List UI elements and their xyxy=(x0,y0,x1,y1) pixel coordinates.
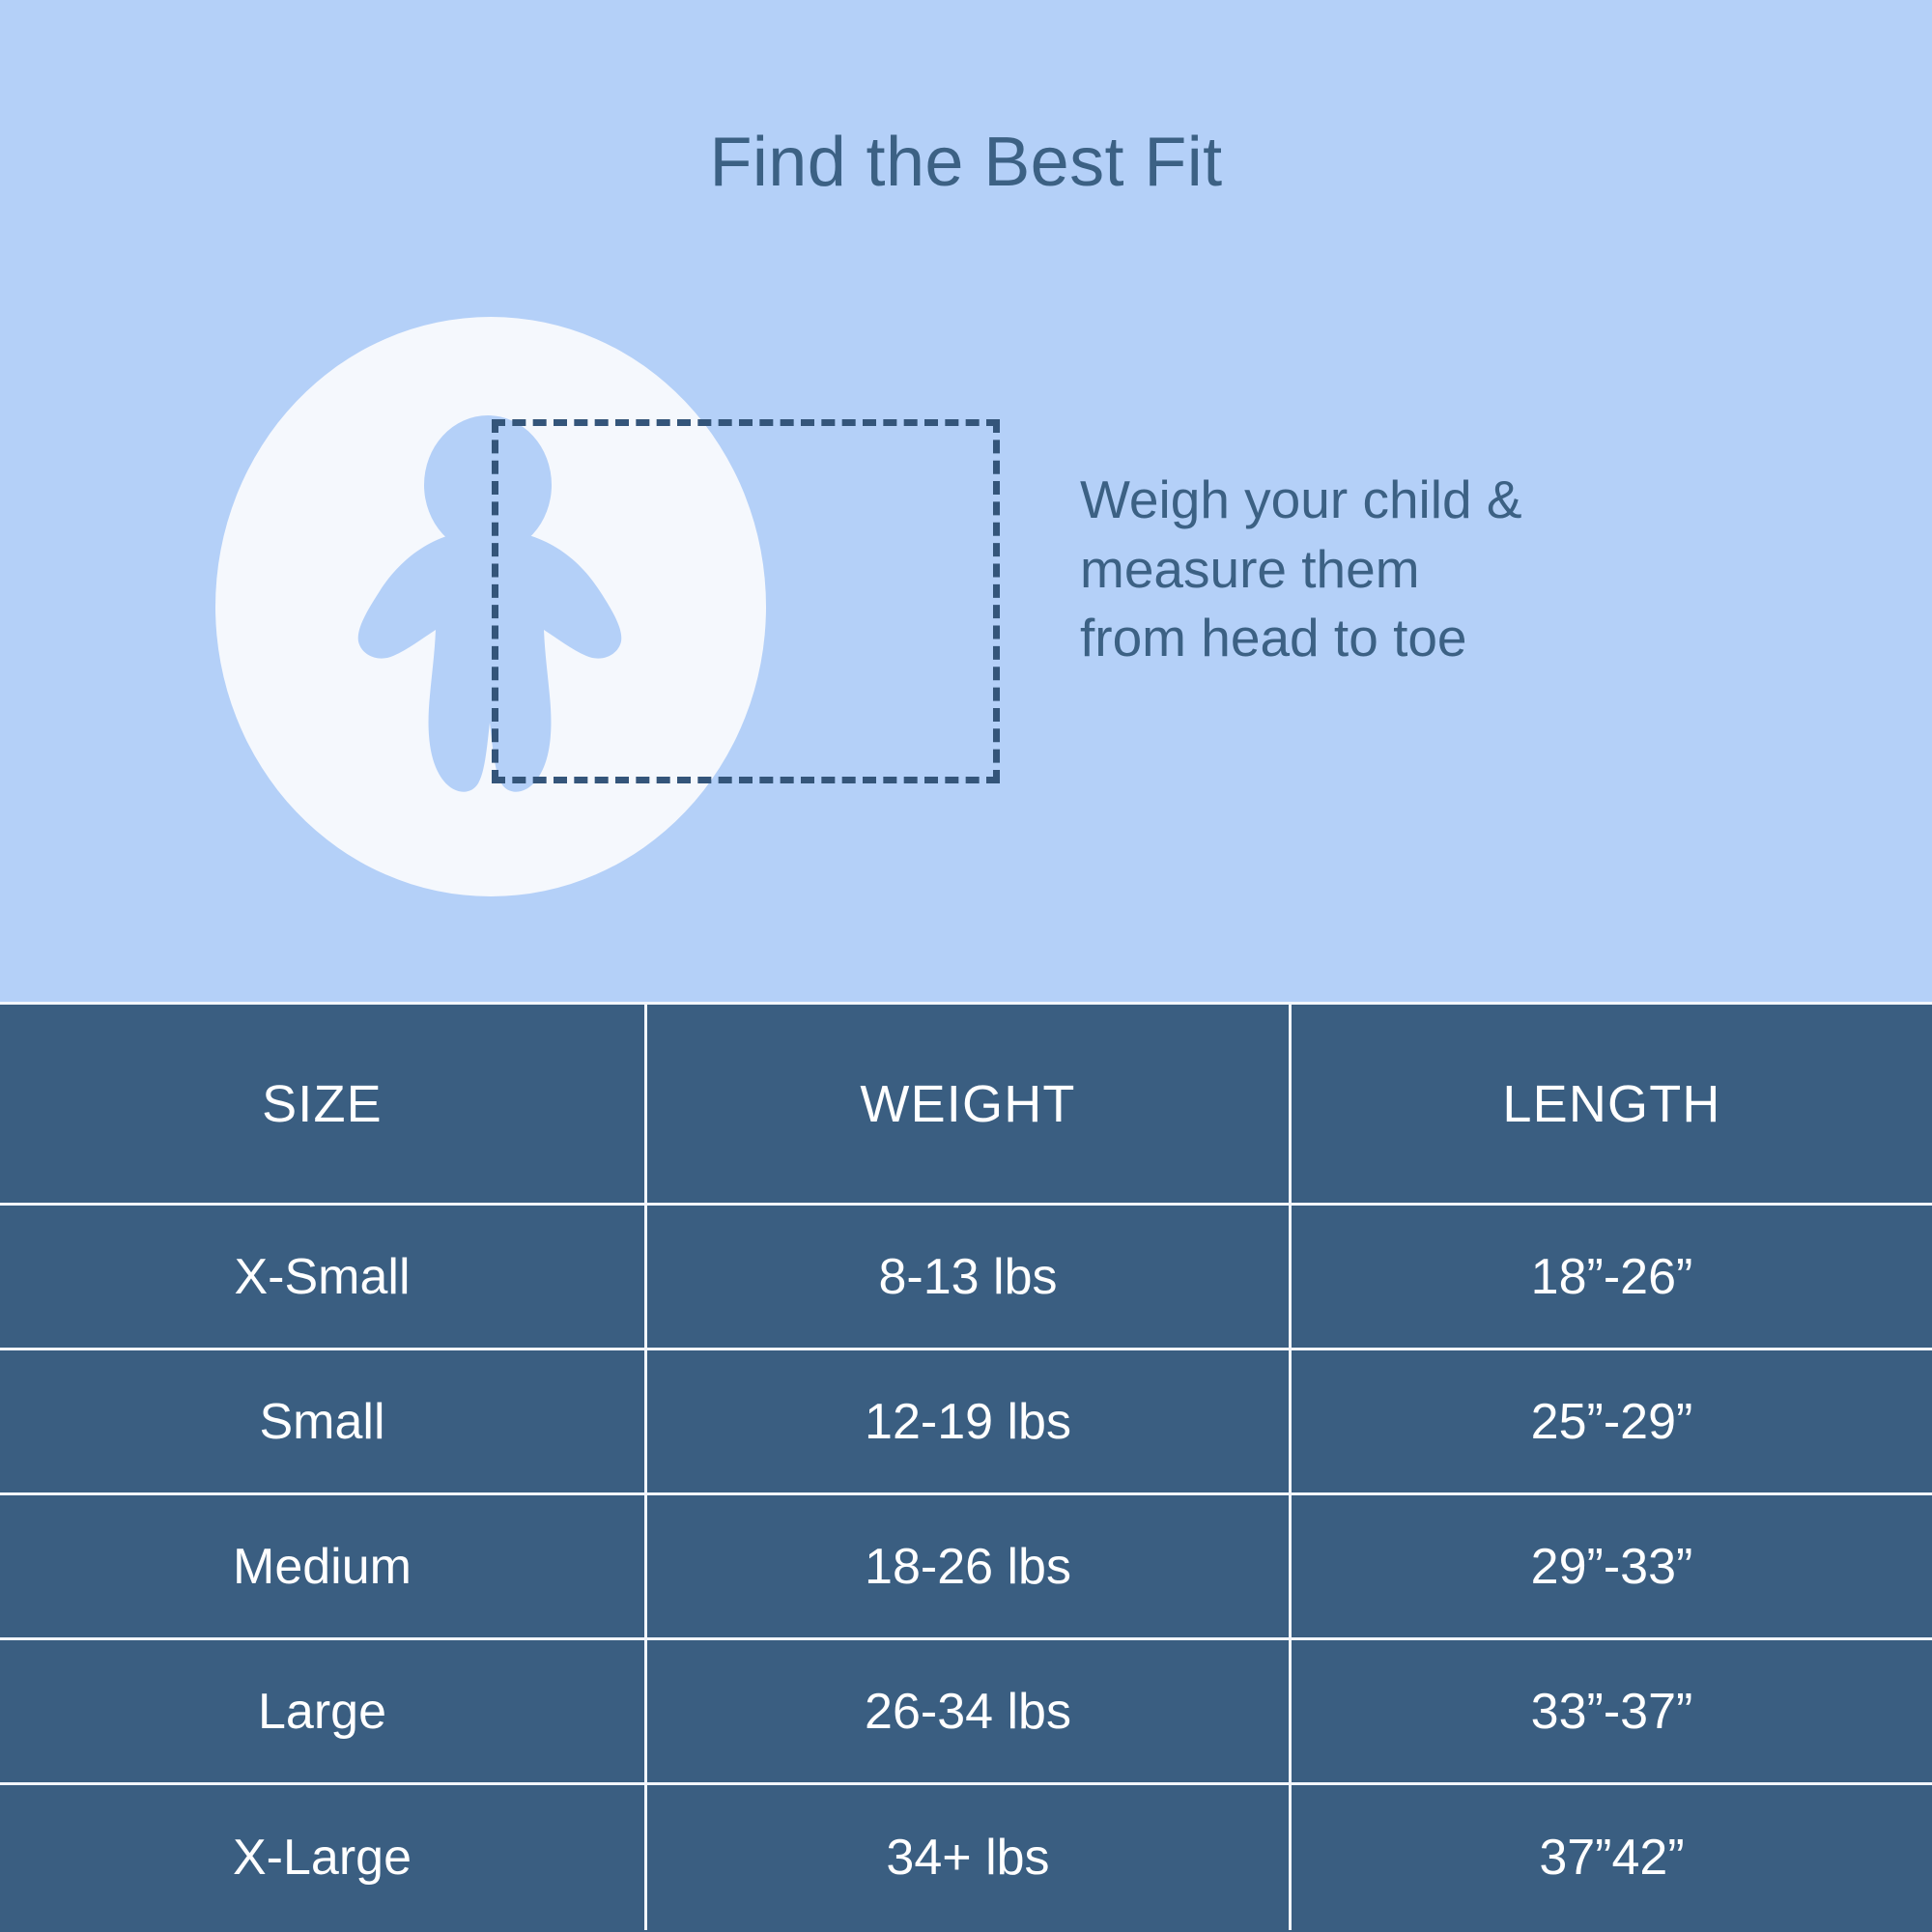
cell-weight: 12-19 lbs xyxy=(647,1350,1292,1492)
table-row: X-Large 34+ lbs 37”42” xyxy=(0,1785,1932,1930)
table-row: Large 26-34 lbs 33”-37” xyxy=(0,1640,1932,1785)
cell-size: Large xyxy=(0,1640,647,1782)
dashed-measure-box-icon xyxy=(492,419,1000,783)
cell-weight: 18-26 lbs xyxy=(647,1495,1292,1637)
cell-size: X-Small xyxy=(0,1206,647,1348)
cell-size: Small xyxy=(0,1350,647,1492)
table-header-row: SIZE WEIGHT LENGTH xyxy=(0,1005,1932,1206)
caption-line-1: Weigh your child & xyxy=(1080,466,1776,535)
cell-length: 29”-33” xyxy=(1292,1495,1932,1637)
cell-length: 33”-37” xyxy=(1292,1640,1932,1782)
cell-weight: 34+ lbs xyxy=(647,1785,1292,1930)
caption-line-2: measure them xyxy=(1080,535,1776,605)
page-title: Find the Best Fit xyxy=(0,128,1932,197)
caption-line-3: from head to toe xyxy=(1080,604,1776,673)
cell-length: 25”-29” xyxy=(1292,1350,1932,1492)
cell-weight: 8-13 lbs xyxy=(647,1206,1292,1348)
table-row: Medium 18-26 lbs 29”-33” xyxy=(0,1495,1932,1640)
column-header-weight: WEIGHT xyxy=(647,1005,1292,1203)
size-chart-table: SIZE WEIGHT LENGTH X-Small 8-13 lbs 18”-… xyxy=(0,1002,1932,1932)
cell-weight: 26-34 lbs xyxy=(647,1640,1292,1782)
table-row: Small 12-19 lbs 25”-29” xyxy=(0,1350,1932,1495)
cell-size: X-Large xyxy=(0,1785,647,1930)
hero-section: Find the Best Fit Weigh your child & mea… xyxy=(0,0,1932,1002)
table-row: X-Small 8-13 lbs 18”-26” xyxy=(0,1206,1932,1350)
hero-caption: Weigh your child & measure them from hea… xyxy=(1080,466,1776,673)
column-header-length: LENGTH xyxy=(1292,1005,1932,1203)
cell-length: 37”42” xyxy=(1292,1785,1932,1930)
cell-length: 18”-26” xyxy=(1292,1206,1932,1348)
column-header-size: SIZE xyxy=(0,1005,647,1203)
size-chart-infographic: Find the Best Fit Weigh your child & mea… xyxy=(0,0,1932,1932)
cell-size: Medium xyxy=(0,1495,647,1637)
